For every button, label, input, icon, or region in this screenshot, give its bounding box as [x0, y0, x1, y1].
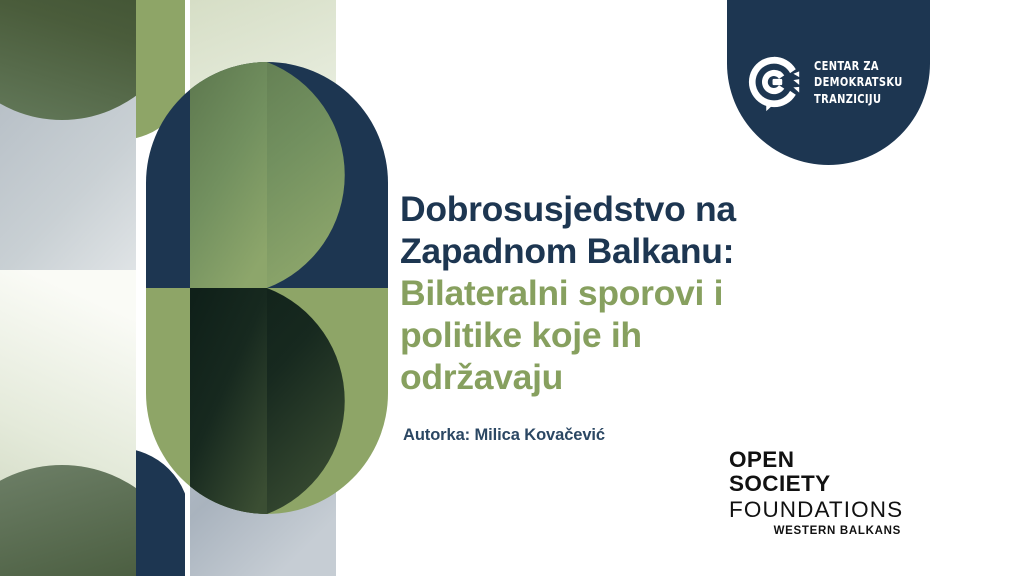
page-title: Dobrosusjedstvo na Zapadnom Balkanu: Bil…: [400, 188, 830, 398]
abstract-rounded-shapes-graphic: [0, 0, 392, 576]
cdt-badge: CENTAR ZA DEMOKRATSKU TRANZICIJU: [727, 0, 930, 165]
open-society-foundations-logo: OPEN SOCIETY FOUNDATIONS WESTERN BALKANS: [729, 448, 901, 539]
title-line-1: Dobrosusjedstvo na: [400, 188, 830, 230]
osf-line-2: FOUNDATIONS: [729, 497, 901, 522]
title-line-2: Zapadnom Balkanu:: [400, 230, 830, 272]
osf-line-1: OPEN SOCIETY: [729, 448, 901, 497]
title-line-5: održavaju: [400, 356, 830, 398]
cdt-circular-speech-mark-icon: [743, 51, 805, 113]
osf-line-3: WESTERN BALKANS: [729, 525, 901, 539]
author-line: Autorka: Milica Kovačević: [403, 426, 605, 445]
cdt-line-1: CENTAR ZA: [814, 58, 903, 75]
cdt-line-3: TRANZICIJU: [814, 91, 903, 108]
title-line-4: politike koje ih: [400, 314, 830, 356]
title-line-3: Bilateralni sporovi i: [400, 272, 830, 314]
title-slide: CENTAR ZA DEMOKRATSKU TRANZICIJU Dobrosu…: [0, 0, 1024, 576]
cdt-line-2: DEMOKRATSKU: [814, 74, 903, 91]
